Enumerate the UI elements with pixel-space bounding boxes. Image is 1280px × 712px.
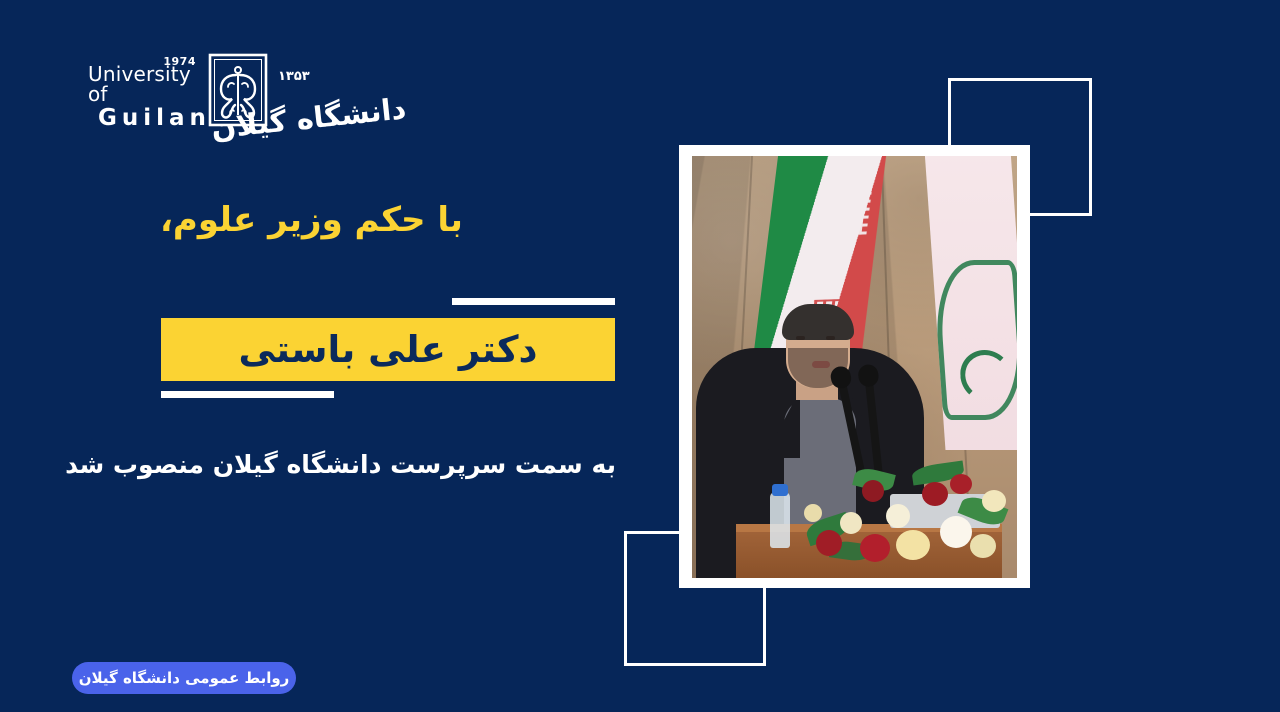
university-logo: 1974 University of Guilan ۱۳۵۳ دانشگاه گ… (88, 48, 408, 136)
logo-year-persian: ۱۳۵۳ (278, 69, 310, 84)
water-bottle (770, 492, 790, 548)
flag-kufic-script-top (822, 177, 873, 237)
public-relations-badge[interactable]: روابط عمومی دانشگاه گیلان (72, 662, 296, 694)
logo-university-word: University of (88, 64, 200, 104)
photo-frame (679, 145, 1030, 588)
speaker-lapel-left (764, 390, 800, 458)
logo-persian-text: ۱۳۵۳ دانشگاه گیلان (276, 53, 408, 131)
flower-arrangement (800, 460, 1012, 564)
headline-subline: به سمت سرپرست دانشگاه گیلان منصوب شد (118, 450, 616, 479)
speaker-photo (692, 156, 1017, 578)
name-highlight-box: دکتر علی باستی (161, 318, 615, 381)
speaker-eye-left (796, 336, 805, 340)
announcement-poster: 1974 University of Guilan ۱۳۵۳ دانشگاه گ… (0, 0, 1280, 712)
headline-kicker: با حکم وزیر علوم، (160, 200, 616, 240)
logo-guilan-word: Guilan (88, 107, 211, 130)
logo-english-text: 1974 University of Guilan (88, 54, 200, 130)
logo-year-english: 1974 (163, 56, 196, 67)
speaker-mouth (812, 361, 830, 368)
speaker-eye-right (826, 336, 835, 340)
person-name: دکتر علی باستی (239, 328, 538, 371)
accent-bar-bottom (161, 391, 334, 398)
water-bottle-cap (772, 484, 788, 496)
speaker-hair (782, 304, 854, 340)
accent-bar-top (452, 298, 615, 305)
public-relations-badge-label: روابط عمومی دانشگاه گیلان (79, 669, 290, 687)
